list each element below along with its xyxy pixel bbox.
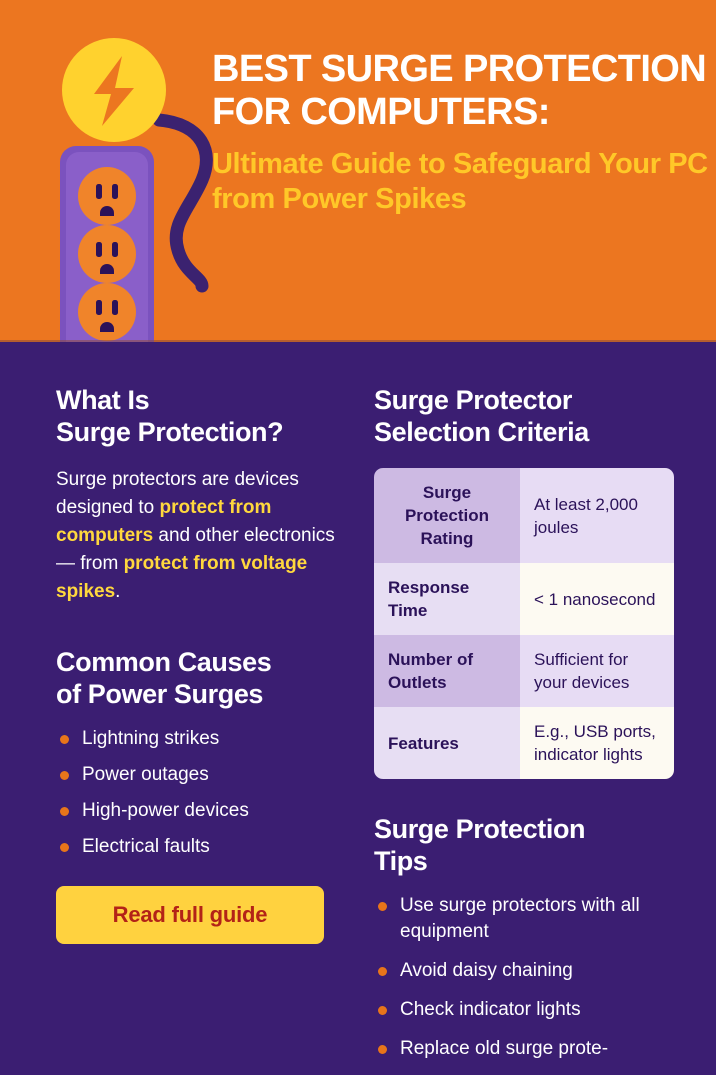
read-full-guide-button[interactable]: Read full guide — [56, 886, 324, 944]
table-cell-value: E.g., USB ports, indicator lights — [520, 707, 674, 779]
bullet-dot-icon — [378, 1006, 387, 1015]
selection-criteria-table: Surge Protection Rating At least 2,000 j… — [374, 468, 674, 779]
body-area: What IsSurge Protection? Surge protector… — [0, 342, 716, 1075]
table-row: Number of Outlets Sufficient for your de… — [374, 635, 674, 707]
list-item-label: Lightning strikes — [82, 728, 219, 749]
page-title: Best Surge Protection For Computers: — [212, 48, 708, 134]
list-item: Use surge protectors with all equipment — [374, 893, 674, 945]
heading-surge-protection-tips: Surge ProtectionTips — [374, 813, 674, 877]
table-row: Features E.g., USB ports, indicator ligh… — [374, 707, 674, 779]
bullet-dot-icon — [378, 967, 387, 976]
list-item: High-power devices — [56, 798, 356, 824]
list-item-label: Replace old surge prote- — [400, 1038, 608, 1059]
list-item-label: Electrical faults — [82, 836, 210, 857]
bullet-dot-icon — [60, 735, 69, 744]
table-cell-value: At least 2,000 joules — [520, 468, 674, 563]
table-cell-criterion: Features — [374, 707, 520, 779]
header-banner: Best Surge Protection For Computers: Ult… — [0, 0, 716, 342]
list-item-label: Check indicator lights — [400, 999, 581, 1020]
table-cell-criterion: Response Time — [374, 563, 520, 635]
what-is-paragraph: Surge protectors are devices designed to… — [56, 466, 346, 606]
list-item: Power outages — [56, 762, 356, 788]
page-subtitle: Ultimate Guide to Safeguard Your PC from… — [212, 147, 708, 217]
bullet-dot-icon — [60, 807, 69, 816]
bullet-dot-icon — [60, 843, 69, 852]
table-cell-value: Sufficient for your devices — [520, 635, 674, 707]
list-item: Lightning strikes — [56, 726, 356, 752]
list-item: Replace old surge prote- — [374, 1036, 674, 1062]
table-cell-criterion: Number of Outlets — [374, 635, 520, 707]
bullet-dot-icon — [378, 1045, 387, 1054]
heading-what-is-surge-protection: What IsSurge Protection? — [56, 384, 356, 448]
bullet-dot-icon — [378, 902, 387, 911]
common-causes-list: Lightning strikes Power outages High-pow… — [56, 726, 356, 860]
infographic-root: Best Surge Protection For Computers: Ult… — [0, 0, 716, 1075]
list-item-label: Power outages — [82, 764, 209, 785]
title-block: Best Surge Protection For Computers: Ult… — [212, 48, 708, 217]
paragraph-text-3: . — [115, 581, 120, 602]
heading-common-causes: Common Causesof Power Surges — [56, 646, 356, 710]
table-row: Surge Protection Rating At least 2,000 j… — [374, 468, 674, 563]
list-item: Avoid daisy chaining — [374, 958, 674, 984]
list-item-label: High-power devices — [82, 800, 249, 821]
list-item-label: Use surge protectors with all equipment — [400, 895, 640, 942]
right-column: Surge ProtectorSelection Criteria Surge … — [374, 384, 674, 1075]
list-item-label: Avoid daisy chaining — [400, 960, 573, 981]
table-cell-criterion: Surge Protection Rating — [374, 468, 520, 563]
left-column: What IsSurge Protection? Surge protector… — [56, 384, 356, 944]
table-row: Response Time < 1 nanosecond — [374, 563, 674, 635]
list-item: Check indicator lights — [374, 997, 674, 1023]
tips-list: Use surge protectors with all equipment … — [374, 893, 674, 1062]
heading-selection-criteria: Surge ProtectorSelection Criteria — [374, 384, 674, 448]
table-cell-value: < 1 nanosecond — [520, 563, 674, 635]
bullet-dot-icon — [60, 771, 69, 780]
list-item: Electrical faults — [56, 834, 356, 860]
